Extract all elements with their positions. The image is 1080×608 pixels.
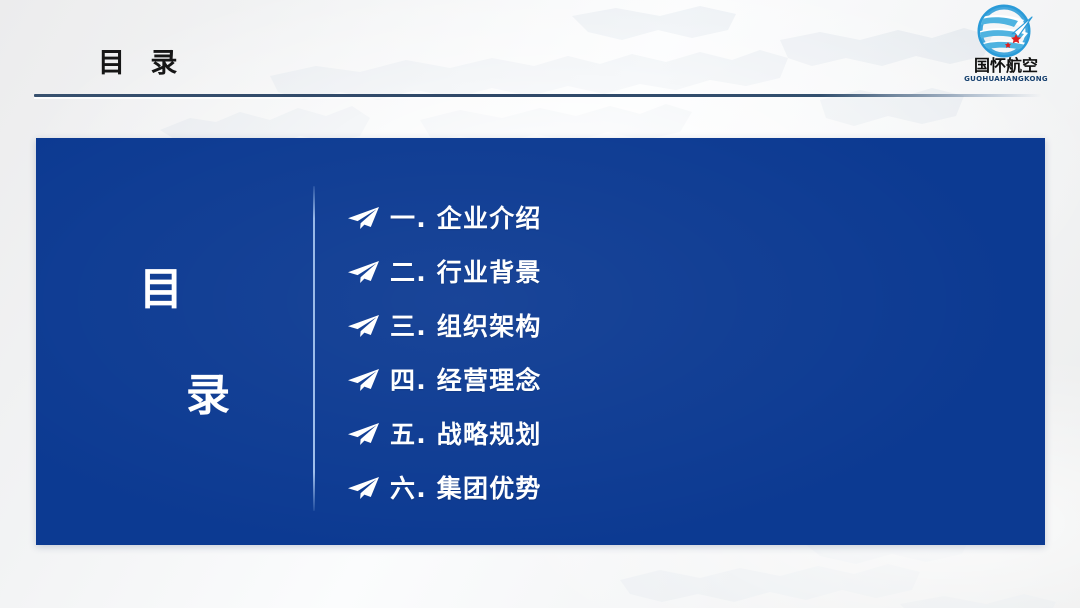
- toc-item-2[interactable]: 二. 行业背景: [336, 245, 976, 299]
- paper-plane-icon: [336, 260, 390, 284]
- paper-plane-icon: [336, 476, 390, 500]
- paper-plane-icon: [336, 314, 390, 338]
- toc-item-3[interactable]: 三. 组织架构: [336, 299, 976, 353]
- panel-heading-char-1: 目: [18, 268, 304, 312]
- toc-item-label: 四. 经营理念: [390, 368, 542, 393]
- toc-panel: 目 录 一. 企业介绍 二. 行业背景: [36, 138, 1045, 545]
- page-title: 目 录: [98, 50, 185, 77]
- header-divider-highlight: [34, 97, 1034, 99]
- panel-vertical-divider: [313, 186, 315, 511]
- paper-plane-icon: [336, 206, 390, 230]
- toc-item-5[interactable]: 五. 战略规划: [336, 407, 976, 461]
- toc-list: 一. 企业介绍 二. 行业背景 三. 组织架构: [336, 191, 976, 515]
- globe-plane-emblem-icon: [968, 4, 1042, 60]
- toc-item-4[interactable]: 四. 经营理念: [336, 353, 976, 407]
- logo-company-name-en: GUOHUAHANGKONG: [954, 76, 1058, 83]
- paper-plane-icon: [336, 422, 390, 446]
- toc-item-6[interactable]: 六. 集团优势: [336, 461, 976, 515]
- paper-plane-icon: [336, 368, 390, 392]
- logo-company-name-cn: 国怀航空: [954, 58, 1058, 74]
- toc-item-label: 三. 组织架构: [390, 314, 542, 339]
- slide-root: 目 录 国怀航空 GUOHUAHANGKONG: [0, 0, 1080, 608]
- toc-item-1[interactable]: 一. 企业介绍: [336, 191, 976, 245]
- panel-heading-char-2: 录: [112, 374, 304, 418]
- toc-item-label: 五. 战略规划: [390, 422, 542, 447]
- panel-heading: 目 录: [76, 268, 304, 418]
- toc-item-label: 二. 行业背景: [390, 260, 542, 285]
- toc-item-label: 一. 企业介绍: [390, 206, 542, 231]
- toc-item-label: 六. 集团优势: [390, 476, 542, 501]
- company-logo: 国怀航空 GUOHUAHANGKONG: [954, 4, 1058, 92]
